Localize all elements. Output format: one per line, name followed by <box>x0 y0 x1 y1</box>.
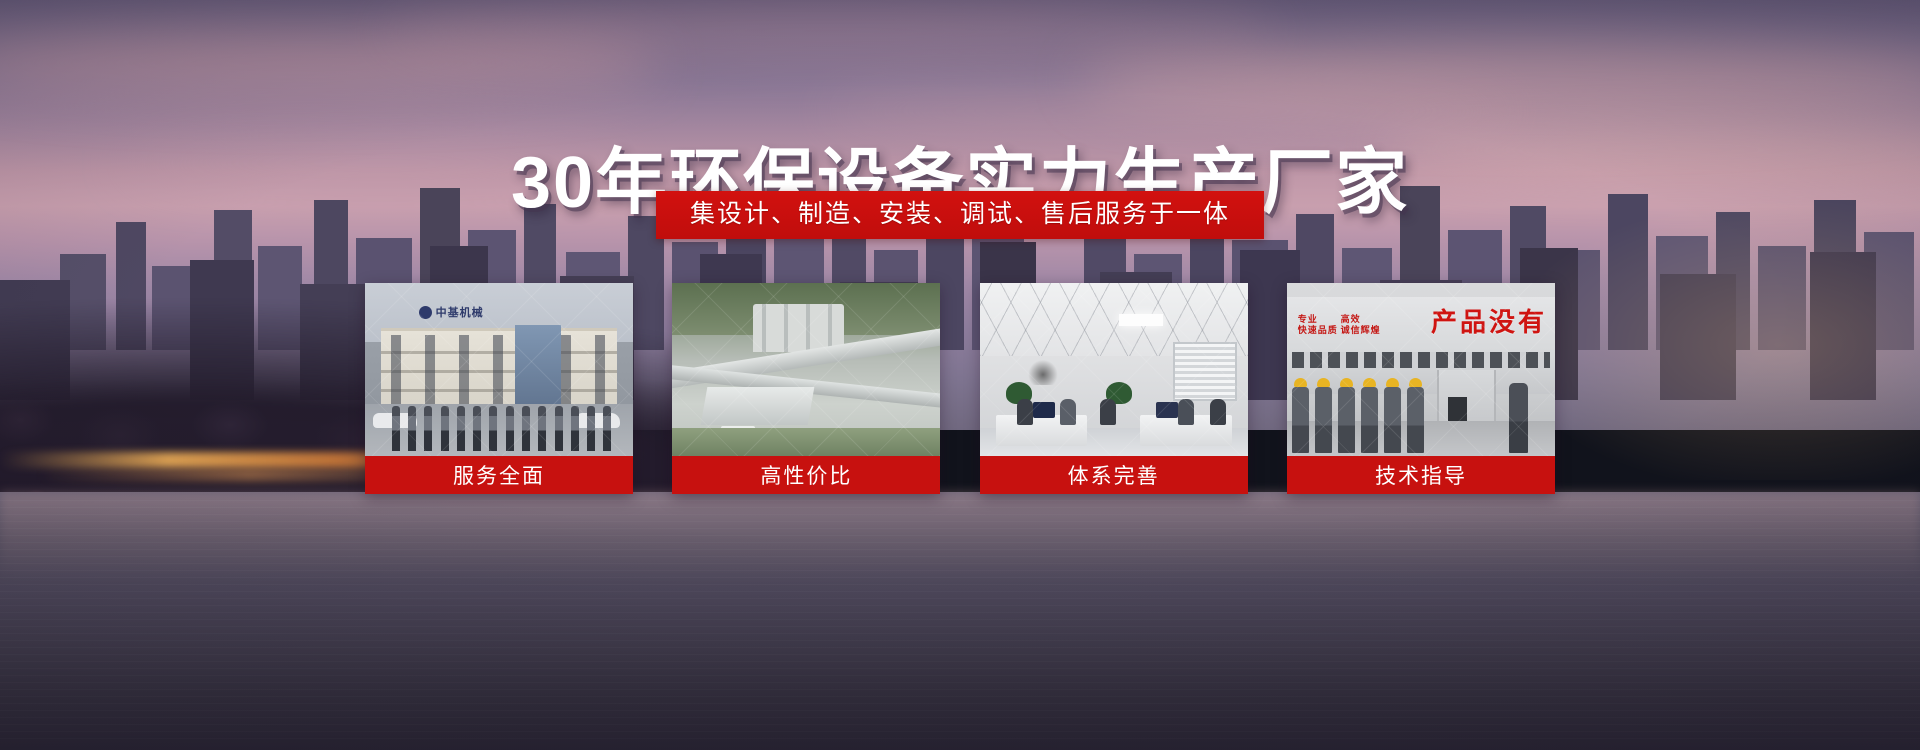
factory-wall-slogan-small: 专业 快速品质 <box>1298 314 1338 337</box>
slogan-line: 专业 <box>1298 314 1338 325</box>
ceiling-light <box>1119 314 1163 326</box>
wall-decal <box>1025 359 1061 385</box>
feature-card[interactable]: 中基机械 服务全面 <box>365 283 633 494</box>
slogan-line: 高效 <box>1341 314 1381 325</box>
slogan-line: 快速品质 <box>1298 325 1338 336</box>
feature-card[interactable]: 产品没有 专业 快速品质 高效 诚信辉煌 <box>1287 283 1555 494</box>
computer-monitor <box>1033 402 1055 418</box>
banner-content: 30年环保设备实力生产厂家 集设计、制造、安装、调试、售后服务于一体 中基机械 <box>0 0 1920 750</box>
worker-line <box>1292 376 1431 452</box>
office-worker <box>1100 399 1116 425</box>
building-sign-text: 中基机械 <box>436 304 484 320</box>
office-worker <box>1210 399 1226 425</box>
factory-window-row <box>1292 352 1549 368</box>
staff-line <box>392 406 612 451</box>
office-worker <box>1060 399 1076 425</box>
building-sign: 中基机械 <box>419 302 515 323</box>
card-photo-aerial-plant <box>672 283 940 456</box>
feature-card[interactable]: 高性价比 <box>672 283 940 494</box>
factory-wall-slogan-small: 高效 诚信辉煌 <box>1341 314 1381 337</box>
window-blinds <box>1173 342 1237 401</box>
card-caption: 技术指导 <box>1287 456 1555 494</box>
computer-monitor <box>1156 402 1178 418</box>
card-caption: 高性价比 <box>672 456 940 494</box>
feature-card[interactable]: 体系完善 <box>980 283 1248 494</box>
slogan-line: 诚信辉煌 <box>1341 325 1381 336</box>
card-caption: 体系完善 <box>980 456 1248 494</box>
banner-subtitle-text: 集设计、制造、安装、调试、售后服务于一体 <box>690 199 1230 229</box>
card-photo-factory-workers: 产品没有 专业 快速品质 高效 诚信辉煌 <box>1287 283 1555 456</box>
office-worker <box>1178 399 1194 425</box>
card-caption: 服务全面 <box>365 456 633 494</box>
factory-wall-slogan: 产品没有 <box>1431 302 1547 339</box>
banner-subtitle-bar: 集设计、制造、安装、调试、售后服务于一体 <box>656 191 1264 239</box>
warehouse-shed <box>701 387 815 425</box>
office-worker <box>1017 399 1033 425</box>
supervisor-figure <box>1509 383 1528 452</box>
card-photo-office-building: 中基机械 <box>365 283 633 456</box>
company-logo-icon <box>419 306 432 319</box>
hero-banner: 30年环保设备实力生产厂家 集设计、制造、安装、调试、售后服务于一体 中基机械 <box>0 0 1920 750</box>
feature-card-list: 中基机械 服务全面 <box>365 283 1555 494</box>
card-photo-office-interior <box>980 283 1248 456</box>
